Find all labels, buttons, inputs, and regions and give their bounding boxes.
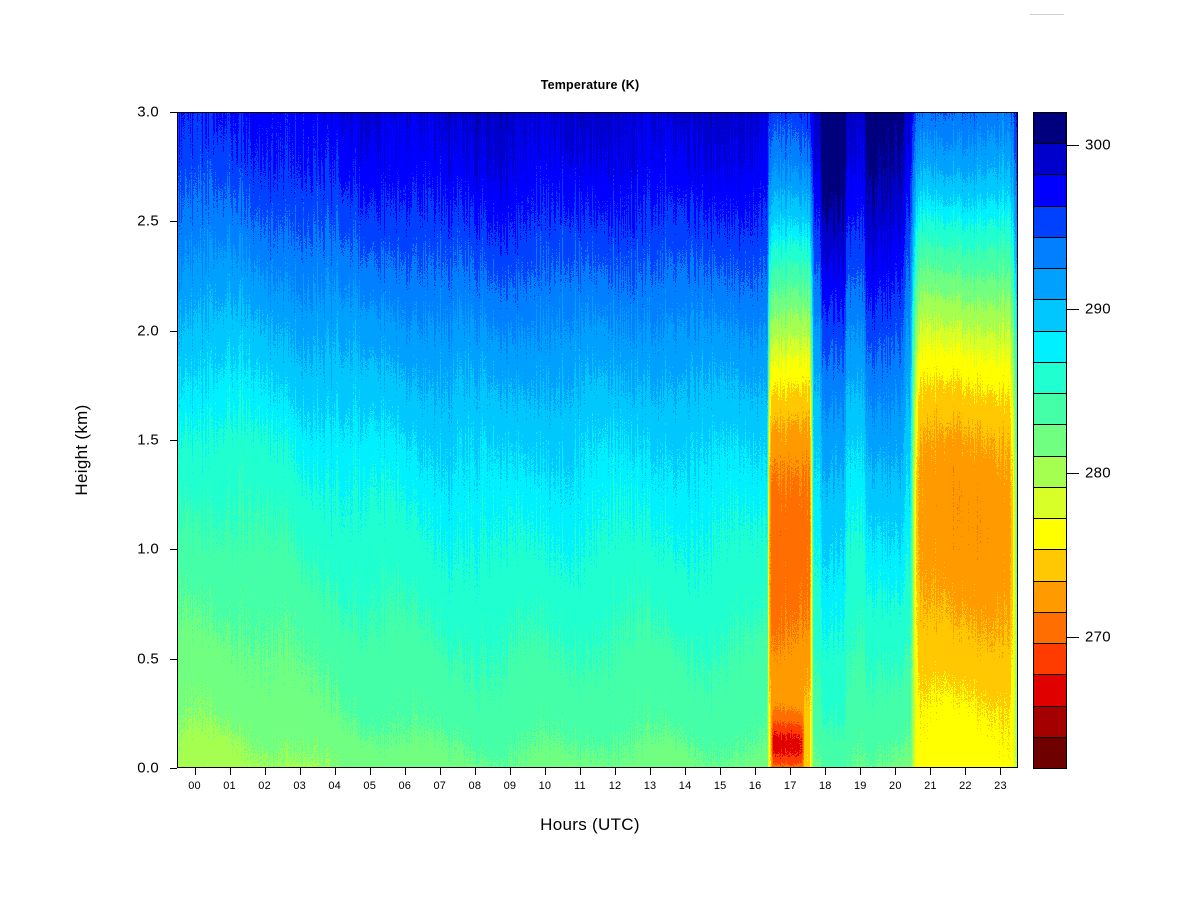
x-tick-mark — [615, 768, 616, 775]
colorbar-band — [1033, 393, 1067, 425]
x-tick-label: 15 — [700, 780, 740, 792]
y-tick-label: 2.0 — [99, 322, 159, 339]
x-tick-mark — [790, 768, 791, 775]
colorbar-band — [1033, 549, 1067, 581]
colorbar-band — [1033, 112, 1067, 144]
y-tick-mark — [170, 768, 177, 769]
x-tick-mark — [1000, 768, 1001, 775]
x-tick-label: 16 — [735, 780, 775, 792]
y-tick-mark — [170, 440, 177, 441]
colorbar-band — [1033, 581, 1067, 613]
colorbar-tick-mark — [1067, 145, 1079, 146]
x-tick-label: 18 — [805, 780, 845, 792]
y-tick-label: 0.5 — [99, 650, 159, 667]
x-tick-mark — [440, 768, 441, 775]
x-tick-mark — [545, 768, 546, 775]
colorbar-band — [1033, 237, 1067, 269]
x-tick-label: 05 — [350, 780, 390, 792]
x-tick-mark — [685, 768, 686, 775]
x-tick-mark — [755, 768, 756, 775]
colorbar-band — [1033, 143, 1067, 175]
colorbar-band — [1033, 612, 1067, 644]
x-tick-mark — [720, 768, 721, 775]
x-tick-label: 21 — [910, 780, 950, 792]
x-tick-label: 08 — [455, 780, 495, 792]
y-tick-label: 1.0 — [99, 541, 159, 558]
x-tick-mark — [230, 768, 231, 775]
colorbar-tick-mark — [1067, 309, 1079, 310]
x-tick-mark — [895, 768, 896, 775]
x-tick-mark — [405, 768, 406, 775]
x-tick-label: 20 — [875, 780, 915, 792]
x-tick-label: 06 — [385, 780, 425, 792]
x-tick-mark — [580, 768, 581, 775]
colorbar-band — [1033, 362, 1067, 394]
colorbar-tick-label: 290 — [1085, 300, 1111, 317]
x-tick-label: 01 — [210, 780, 250, 792]
x-tick-label: 12 — [595, 780, 635, 792]
colorbar-band — [1033, 456, 1067, 488]
x-tick-label: 19 — [840, 780, 880, 792]
heatmap-plot-area — [177, 112, 1018, 768]
x-tick-label: 03 — [280, 780, 320, 792]
y-tick-mark — [170, 221, 177, 222]
x-tick-mark — [965, 768, 966, 775]
x-tick-label: 17 — [770, 780, 810, 792]
colorbar-tick-mark — [1067, 473, 1079, 474]
x-tick-label: 00 — [175, 780, 215, 792]
x-tick-label: 13 — [630, 780, 670, 792]
x-tick-label: 22 — [945, 780, 985, 792]
colorbar-band — [1033, 674, 1067, 706]
colorbar-band — [1033, 518, 1067, 550]
colorbar-band — [1033, 331, 1067, 363]
x-axis-title: Hours (UTC) — [0, 815, 1190, 835]
x-tick-mark — [370, 768, 371, 775]
x-tick-label: 10 — [525, 780, 565, 792]
x-tick-label: 07 — [420, 780, 460, 792]
x-tick-mark — [510, 768, 511, 775]
x-tick-mark — [265, 768, 266, 775]
colorbar-band — [1033, 643, 1067, 675]
colorbar-band — [1033, 299, 1067, 331]
y-tick-label: 0.0 — [99, 760, 159, 777]
y-tick-mark — [170, 331, 177, 332]
colorbar-band — [1033, 174, 1067, 206]
y-tick-mark — [170, 659, 177, 660]
colorbar-tick-label: 280 — [1085, 464, 1111, 481]
x-tick-label: 09 — [490, 780, 530, 792]
colorbar-band — [1033, 268, 1067, 300]
chart-canvas-root: Temperature (K) 0.00.51.01.52.02.53.0 00… — [0, 0, 1200, 900]
capture-artifact — [1030, 0, 1064, 15]
x-tick-mark — [195, 768, 196, 775]
y-tick-label: 2.5 — [99, 213, 159, 230]
colorbar-tick-mark — [1067, 637, 1079, 638]
x-tick-label: 02 — [245, 780, 285, 792]
y-tick-mark — [170, 112, 177, 113]
colorbar-band — [1033, 737, 1067, 769]
colorbar-band — [1033, 206, 1067, 238]
x-tick-mark — [825, 768, 826, 775]
y-tick-mark — [170, 549, 177, 550]
x-tick-mark — [930, 768, 931, 775]
y-axis-title: Height (km) — [72, 350, 92, 550]
colorbar-tick-label: 300 — [1085, 136, 1111, 153]
x-tick-mark — [650, 768, 651, 775]
colorbar — [1033, 112, 1067, 768]
x-tick-label: 23 — [980, 780, 1020, 792]
x-tick-mark — [335, 768, 336, 775]
x-tick-label: 11 — [560, 780, 600, 792]
heatmap-image — [177, 112, 1018, 768]
y-tick-label: 1.5 — [99, 432, 159, 449]
x-tick-mark — [300, 768, 301, 775]
colorbar-tick-label: 270 — [1085, 628, 1111, 645]
x-tick-mark — [475, 768, 476, 775]
x-tick-label: 04 — [315, 780, 355, 792]
colorbar-band — [1033, 424, 1067, 456]
x-tick-label: 14 — [665, 780, 705, 792]
colorbar-band — [1033, 706, 1067, 738]
colorbar-band — [1033, 487, 1067, 519]
y-tick-label: 3.0 — [99, 104, 159, 121]
chart-title: Temperature (K) — [0, 78, 1190, 92]
x-tick-mark — [860, 768, 861, 775]
